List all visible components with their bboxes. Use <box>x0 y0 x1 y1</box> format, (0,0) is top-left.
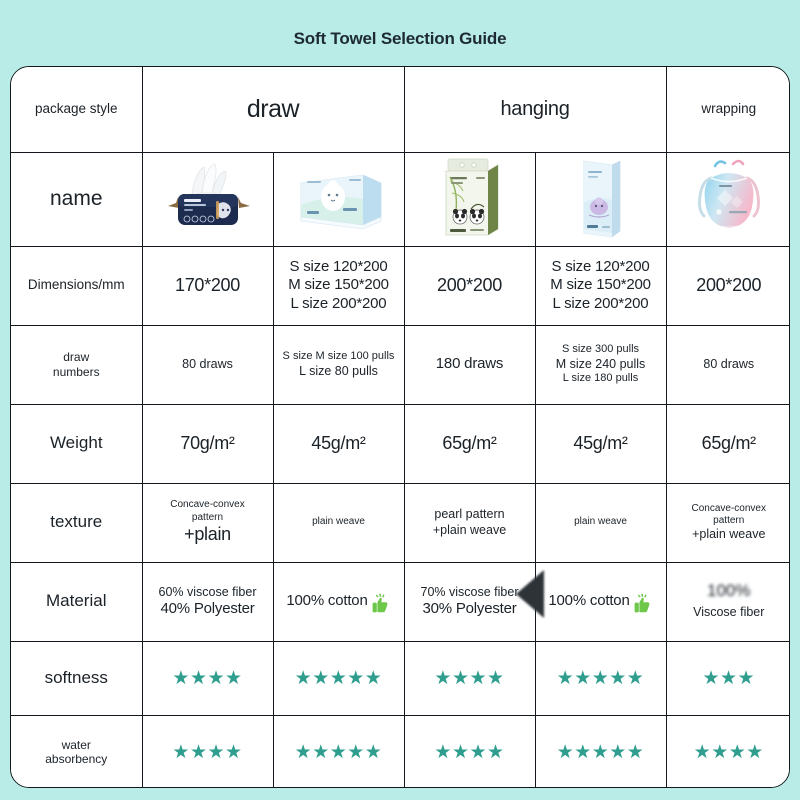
texture-cell-5: Concave-convex pattern +plain weave <box>666 483 790 562</box>
water-absorbency-cell-1: ★★★★ <box>142 715 273 788</box>
value-line: pattern <box>670 515 789 527</box>
value-line: 45g/m² <box>277 433 401 455</box>
product-cell-5 <box>666 152 790 246</box>
star-rating: ★★★★★ <box>539 743 663 762</box>
value-line: +plain weave <box>670 527 789 542</box>
star-rating: ★★★ <box>670 669 789 688</box>
value-line: M size 240 pulls <box>539 357 663 372</box>
water-absorbency-cell-5: ★★★★ <box>666 715 790 788</box>
soft-towel-comparison-table: package style draw hanging wrapping name <box>11 67 790 788</box>
value-line: 70% viscose fiber <box>408 585 532 600</box>
comparison-table-container: package style draw hanging wrapping name <box>10 66 790 788</box>
value-line: 70g/m² <box>146 433 270 455</box>
material-cell-2: 100% cotton <box>273 562 404 641</box>
row-label-dimensions: Dimensions/mm <box>11 246 142 325</box>
soft-pack-navy-tissue-image <box>146 157 270 241</box>
dimensions-cell-5: 200*200 <box>666 246 790 325</box>
table-row-dimensions: Dimensions/mm 170*200 S size 120*200 M s… <box>11 246 790 325</box>
weight-cell-1: 70g/m² <box>142 404 273 483</box>
table-row-water-absorbency: water absorbency ★★★★ ★★★★★ ★★★★ ★★★★★ ★… <box>11 715 790 788</box>
thumbs-up-icon <box>631 593 653 615</box>
draw-numbers-cell-2: S size M size 100 pulls L size 80 pulls <box>273 325 404 404</box>
value-line: 45g/m² <box>539 433 663 455</box>
pink-blue-pouch-image <box>670 157 789 241</box>
table-row-weight: Weight 70g/m² 45g/m² 65g/m² 45g/m² 65g/m… <box>11 404 790 483</box>
table-row-texture: texture Concave-convex pattern +plain pl… <box>11 483 790 562</box>
header-group-wrapping: wrapping <box>666 67 790 152</box>
value-line: +plain <box>146 524 270 546</box>
star-rating: ★★★★★ <box>277 743 401 762</box>
weight-cell-5: 65g/m² <box>666 404 790 483</box>
label-line: draw <box>14 350 139 365</box>
value-line: L size 180 pulls <box>539 372 663 385</box>
value-line: S size M size 100 pulls <box>277 350 401 363</box>
row-label-water-absorbency: water absorbency <box>11 715 142 788</box>
product-cell-1 <box>142 152 273 246</box>
star-rating: ★★★★ <box>146 743 270 762</box>
value-line: S size 300 pulls <box>539 343 663 356</box>
table-row-name: name <box>11 152 790 246</box>
value-line: 65g/m² <box>408 433 532 455</box>
label-line: numbers <box>14 365 139 380</box>
row-label-package-style: package style <box>11 67 142 152</box>
label-line: absorbency <box>14 752 139 767</box>
header-group-hanging: hanging <box>404 67 666 152</box>
material-cell-4: 100% cotton <box>535 562 666 641</box>
softness-cell-4: ★★★★★ <box>535 641 666 715</box>
value-line: 100% cotton <box>548 592 629 610</box>
value-line: M size 150*200 <box>277 276 401 294</box>
row-label-texture: texture <box>11 483 142 562</box>
star-rating: ★★★★★ <box>277 669 401 688</box>
draw-numbers-cell-5: 80 draws <box>666 325 790 404</box>
star-rating: ★★★★ <box>408 669 532 688</box>
value-line: 200*200 <box>670 275 789 297</box>
product-cell-3 <box>404 152 535 246</box>
row-label-softness: softness <box>11 641 142 715</box>
value-line: L size 80 pulls <box>277 364 401 379</box>
star-rating: ★★★★ <box>408 743 532 762</box>
weight-cell-3: 65g/m² <box>404 404 535 483</box>
value-line: L size 200*200 <box>277 295 401 313</box>
material-cell-5: 100% Viscose fiber <box>666 562 790 641</box>
water-absorbency-cell-2: ★★★★★ <box>273 715 404 788</box>
value-line: pearl pattern <box>408 507 532 522</box>
row-label-weight: Weight <box>11 404 142 483</box>
value-line: Concave-convex <box>146 499 270 511</box>
green-panda-box-image <box>408 157 532 241</box>
value-line: plain weave <box>277 516 401 528</box>
dimensions-cell-4: S size 120*200 M size 150*200 L size 200… <box>535 246 666 325</box>
softness-cell-5: ★★★ <box>666 641 790 715</box>
value-line: Viscose fiber <box>693 605 764 619</box>
texture-cell-1: Concave-convex pattern +plain <box>142 483 273 562</box>
table-row-package-style: package style draw hanging wrapping <box>11 67 790 152</box>
value-line: L size 200*200 <box>539 295 663 313</box>
blue-box-tissue-image <box>277 157 401 241</box>
table-row-draw-numbers: draw numbers 80 draws S size M size 100 … <box>11 325 790 404</box>
value-line: 200*200 <box>408 275 532 297</box>
value-line: 65g/m² <box>670 433 789 455</box>
product-cell-2 <box>273 152 404 246</box>
blue-tall-box-image <box>539 157 663 241</box>
table-row-material: Material 60% viscose fiber 40% Polyester… <box>11 562 790 641</box>
value-line: 80 draws <box>670 357 789 372</box>
row-label-material: Material <box>11 562 142 641</box>
star-rating: ★★★★★ <box>539 669 663 688</box>
dimensions-cell-1: 170*200 <box>142 246 273 325</box>
draw-numbers-cell-4: S size 300 pulls M size 240 pulls L size… <box>535 325 666 404</box>
value-line: 30% Polyester <box>408 600 532 618</box>
value-line: M size 150*200 <box>539 276 663 294</box>
value-line: 40% Polyester <box>146 600 270 618</box>
header-group-draw: draw <box>142 67 404 152</box>
value-line: Concave-convex <box>670 503 789 515</box>
value-line: +plain weave <box>408 523 532 538</box>
texture-cell-3: pearl pattern +plain weave <box>404 483 535 562</box>
softness-cell-3: ★★★★ <box>404 641 535 715</box>
value-line: 60% viscose fiber <box>146 585 270 600</box>
value-line-blurred: 100% <box>670 581 789 602</box>
value-line: S size 120*200 <box>277 258 401 276</box>
draw-numbers-cell-3: 180 draws <box>404 325 535 404</box>
value-line: plain weave <box>539 516 663 528</box>
value-line: pattern <box>146 512 270 524</box>
water-absorbency-cell-3: ★★★★ <box>404 715 535 788</box>
texture-cell-2: plain weave <box>273 483 404 562</box>
material-cell-3: 70% viscose fiber 30% Polyester <box>404 562 535 641</box>
star-rating: ★★★★ <box>670 743 789 762</box>
texture-cell-4: plain weave <box>535 483 666 562</box>
value-line: 180 draws <box>408 355 532 373</box>
label-line: water <box>14 738 139 753</box>
value-line: 80 draws <box>146 357 270 372</box>
softness-cell-2: ★★★★★ <box>273 641 404 715</box>
product-cell-4 <box>535 152 666 246</box>
weight-cell-2: 45g/m² <box>273 404 404 483</box>
value-line: S size 120*200 <box>539 258 663 276</box>
dimensions-cell-2: S size 120*200 M size 150*200 L size 200… <box>273 246 404 325</box>
draw-numbers-cell-1: 80 draws <box>142 325 273 404</box>
thumbs-up-icon <box>369 593 391 615</box>
row-label-name: name <box>11 152 142 246</box>
row-label-draw-numbers: draw numbers <box>11 325 142 404</box>
water-absorbency-cell-4: ★★★★★ <box>535 715 666 788</box>
weight-cell-4: 45g/m² <box>535 404 666 483</box>
softness-cell-1: ★★★★ <box>142 641 273 715</box>
star-rating: ★★★★ <box>146 669 270 688</box>
value-line: 170*200 <box>146 275 270 297</box>
page-title: Soft Towel Selection Guide <box>0 29 800 49</box>
dimensions-cell-3: 200*200 <box>404 246 535 325</box>
material-cell-1: 60% viscose fiber 40% Polyester <box>142 562 273 641</box>
value-line: 100% cotton <box>286 592 367 610</box>
table-row-softness: softness ★★★★ ★★★★★ ★★★★ ★★★★★ ★★★ <box>11 641 790 715</box>
